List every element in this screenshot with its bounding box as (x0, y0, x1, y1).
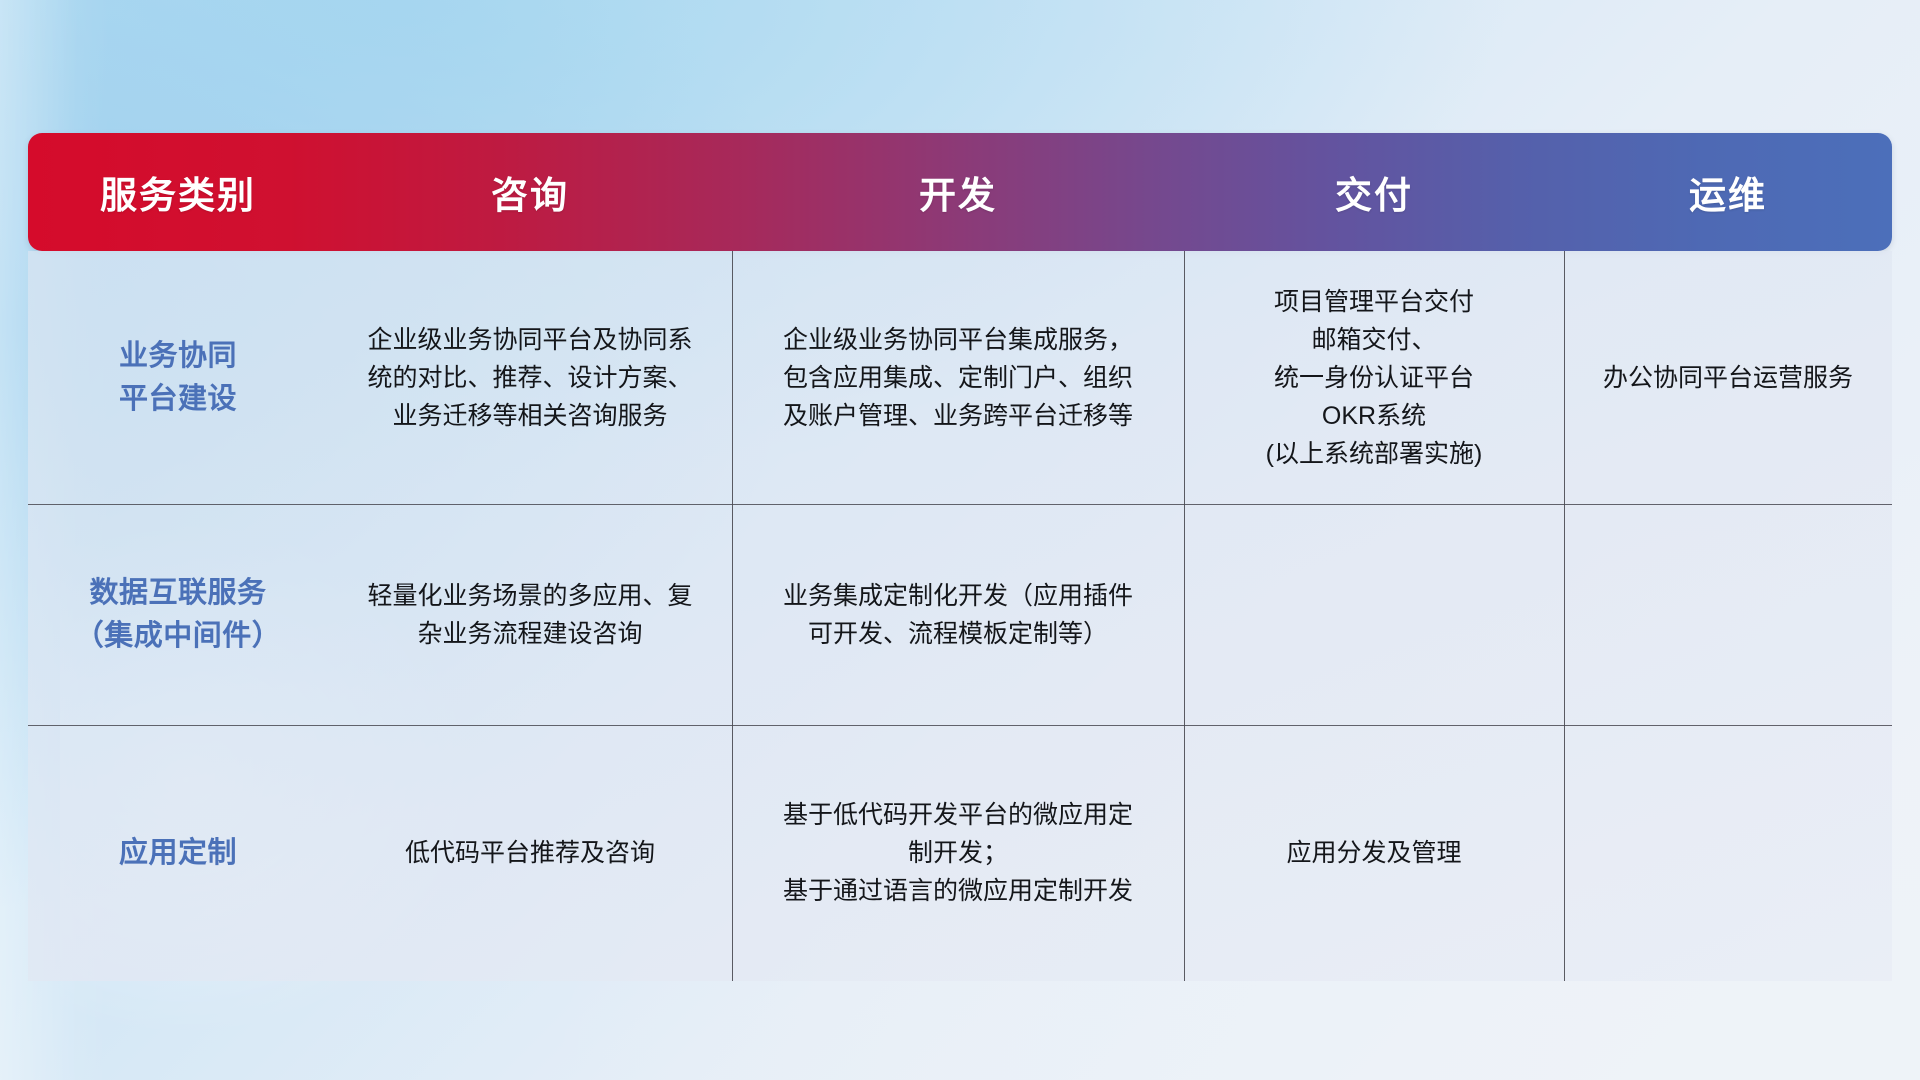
row-category-label: 数据互联服务 （集成中间件） (28, 504, 328, 725)
column-header-consulting: 咨询 (328, 133, 732, 251)
cell-operations (1564, 725, 1892, 981)
row-category-label: 应用定制 (28, 725, 328, 981)
cell-development: 业务集成定制化开发（应用插件 可开发、流程模板定制等） (732, 504, 1184, 725)
cell-consulting: 低代码平台推荐及咨询 (328, 725, 732, 981)
cell-delivery: 项目管理平台交付 邮箱交付、 统一身份认证平台 OKR系统 (以上系统部署实施) (1184, 251, 1564, 504)
cell-development: 企业级业务协同平台集成服务， 包含应用集成、定制门户、组织 及账户管理、业务跨平… (732, 251, 1184, 504)
column-header-delivery: 交付 (1184, 133, 1564, 251)
cell-operations: 办公协同平台运营服务 (1564, 251, 1892, 504)
cell-delivery: 应用分发及管理 (1184, 725, 1564, 981)
table-row: 业务协同 平台建设 企业级业务协同平台及协同系 统的对比、推荐、设计方案、 业务… (28, 251, 1892, 504)
cell-delivery (1184, 504, 1564, 725)
column-header-development: 开发 (732, 133, 1184, 251)
column-header-operations: 运维 (1564, 133, 1892, 251)
cell-consulting: 企业级业务协同平台及协同系 统的对比、推荐、设计方案、 业务迁移等相关咨询服务 (328, 251, 732, 504)
service-matrix-table: 服务类别 咨询 开发 交付 运维 业务协同 平台建设 企业级业务协同平台及协同系… (28, 133, 1892, 981)
cell-consulting: 轻量化业务场景的多应用、复 杂业务流程建设咨询 (328, 504, 732, 725)
row-category-label: 业务协同 平台建设 (28, 251, 328, 504)
cell-development: 基于低代码开发平台的微应用定 制开发； 基于通过语言的微应用定制开发 (732, 725, 1184, 981)
table-row: 应用定制 低代码平台推荐及咨询 基于低代码开发平台的微应用定 制开发； 基于通过… (28, 725, 1892, 981)
table-row: 数据互联服务 （集成中间件） 轻量化业务场景的多应用、复 杂业务流程建设咨询 业… (28, 504, 1892, 725)
cell-operations (1564, 504, 1892, 725)
table-header-row: 服务类别 咨询 开发 交付 运维 (28, 133, 1892, 251)
table-body: 业务协同 平台建设 企业级业务协同平台及协同系 统的对比、推荐、设计方案、 业务… (28, 251, 1892, 981)
column-header-category: 服务类别 (28, 133, 328, 251)
